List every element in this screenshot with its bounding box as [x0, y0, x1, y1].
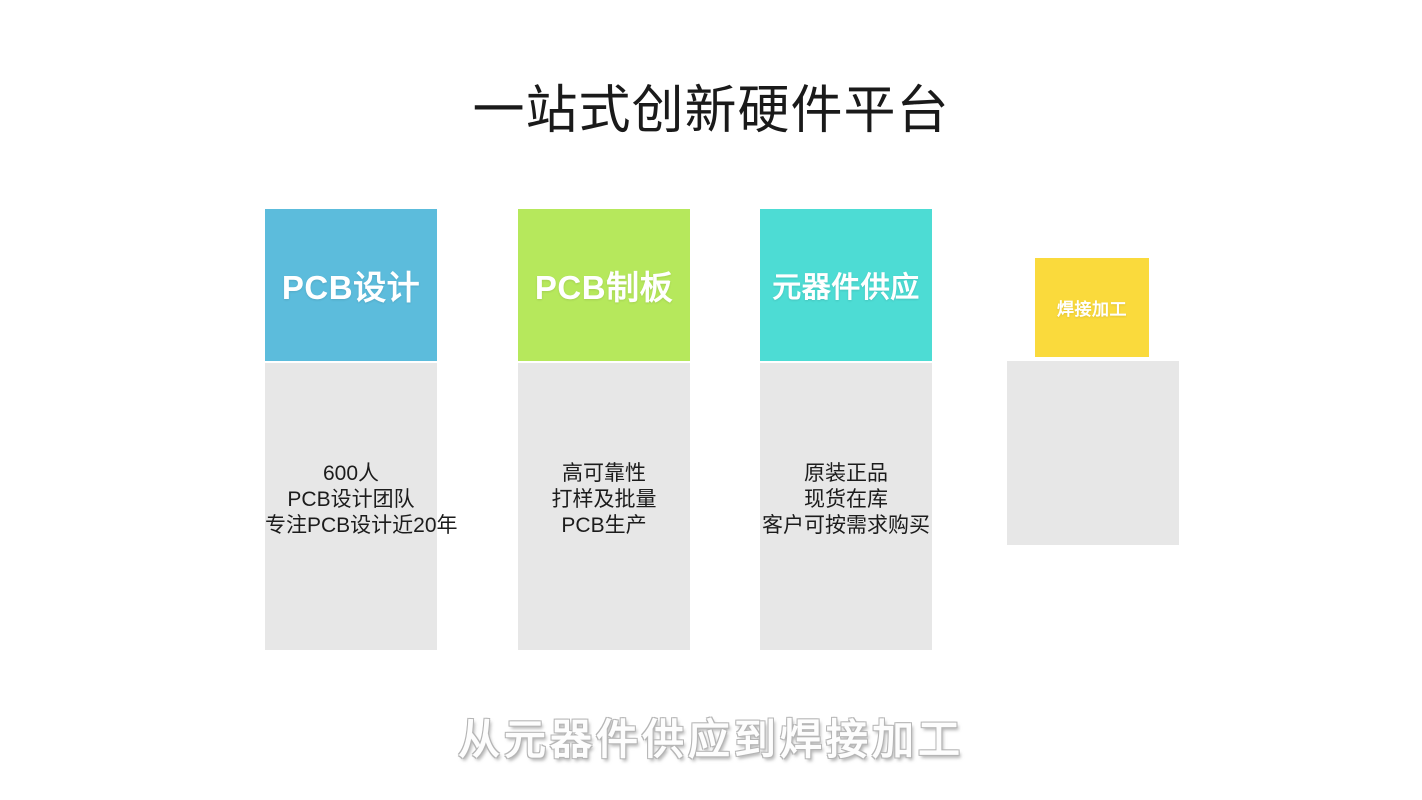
footer-caption: 从元器件供应到焊接加工 — [0, 712, 1422, 768]
column-header-label: 元器件供应 — [772, 264, 920, 306]
body-line-1: 600人 — [265, 461, 437, 487]
column-header-label: PCB制板 — [535, 261, 673, 309]
body-line-1: 原装正品 — [760, 461, 932, 487]
column-header-label: 焊接加工 — [1057, 295, 1127, 320]
column-header-component-supply[interactable]: 元器件供应 — [760, 209, 932, 361]
column-soldering-assembly[interactable]: 焊接加工 — [1007, 258, 1179, 545]
body-line-3: 客户可按需求购买 — [760, 513, 932, 539]
column-body-text-pcb-fabrication: 高可靠性 打样及批量 PCB生产 — [518, 461, 690, 539]
column-body-soldering-assembly — [1007, 361, 1179, 545]
column-header-soldering-assembly[interactable]: 焊接加工 — [1035, 258, 1149, 357]
body-line-2: 打样及批量 — [518, 487, 690, 513]
column-body-text-pcb-design: 600人 PCB设计团队 专注PCB设计近20年 — [265, 461, 437, 539]
column-header-pcb-fabrication[interactable]: PCB制板 — [518, 209, 690, 361]
column-component-supply[interactable]: 元器件供应 原装正品 现货在库 客户可按需求购买 — [760, 209, 932, 650]
body-line-1: 高可靠性 — [518, 461, 690, 487]
body-line-2: 现货在库 — [760, 487, 932, 513]
column-body-text-component-supply: 原装正品 现货在库 客户可按需求购买 — [760, 461, 932, 539]
column-header-label: PCB设计 — [282, 261, 420, 309]
column-header-pcb-design[interactable]: PCB设计 — [265, 209, 437, 361]
columns-group: PCB设计 600人 PCB设计团队 专注PCB设计近20年 PCB制板 高可靠… — [0, 0, 1422, 800]
body-line-3: 专注PCB设计近20年 — [265, 513, 437, 539]
body-line-2: PCB设计团队 — [265, 487, 437, 513]
column-pcb-design[interactable]: PCB设计 600人 PCB设计团队 专注PCB设计近20年 — [265, 209, 437, 650]
column-pcb-fabrication[interactable]: PCB制板 高可靠性 打样及批量 PCB生产 — [518, 209, 690, 650]
body-line-3: PCB生产 — [518, 513, 690, 539]
slide-canvas: 一站式创新硬件平台 PCB设计 600人 PCB设计团队 专注PCB设计近20年… — [0, 0, 1422, 800]
